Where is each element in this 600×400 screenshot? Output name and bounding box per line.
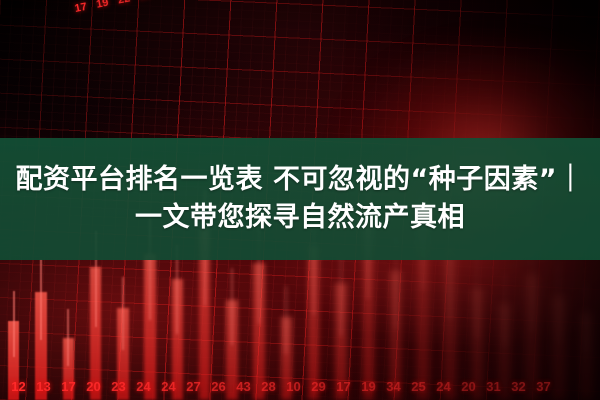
chart-axis-bottom-ticks: 1213172023242427264328102917193425242031… xyxy=(6,379,556,394)
axis-tick: 29 xyxy=(306,379,331,394)
axis-tick: 37 xyxy=(531,379,556,394)
axis-tick: 31 xyxy=(481,379,506,394)
axis-tick: 17 xyxy=(331,379,356,394)
banner-tint-overlay xyxy=(0,138,600,260)
axis-tick: 20 xyxy=(456,379,481,394)
axis-tick: 25 xyxy=(406,379,431,394)
axis-tick: 34 xyxy=(381,379,406,394)
axis-tick: 27 xyxy=(181,379,206,394)
axis-tick: 20 xyxy=(81,379,106,394)
screenshot-canvas: 1719222528303337392726 12131720232424272… xyxy=(0,0,600,400)
axis-tick: 32 xyxy=(506,379,531,394)
headline-line-2: 一文带您探寻自然流产真相 xyxy=(135,201,465,235)
axis-tick: 26 xyxy=(206,379,231,394)
axis-tick: 19 xyxy=(356,379,381,394)
axis-tick: 24 xyxy=(156,379,181,394)
axis-tick: 13 xyxy=(31,379,56,394)
headline-banner: 配资平台排名一览表 不可忽视的“种子因素”｜ 一文带您探寻自然流产真相 xyxy=(0,138,600,260)
headline-line-1: 配资平台排名一览表 不可忽视的“种子因素”｜ xyxy=(16,163,585,197)
axis-tick: 17 xyxy=(56,379,81,394)
axis-tick: 43 xyxy=(231,379,256,394)
axis-tick: 24 xyxy=(131,379,156,394)
axis-tick: 28 xyxy=(256,379,281,394)
axis-tick: 10 xyxy=(281,379,306,394)
axis-tick: 24 xyxy=(431,379,456,394)
axis-tick: 12 xyxy=(6,379,31,394)
axis-tick: 23 xyxy=(106,379,131,394)
